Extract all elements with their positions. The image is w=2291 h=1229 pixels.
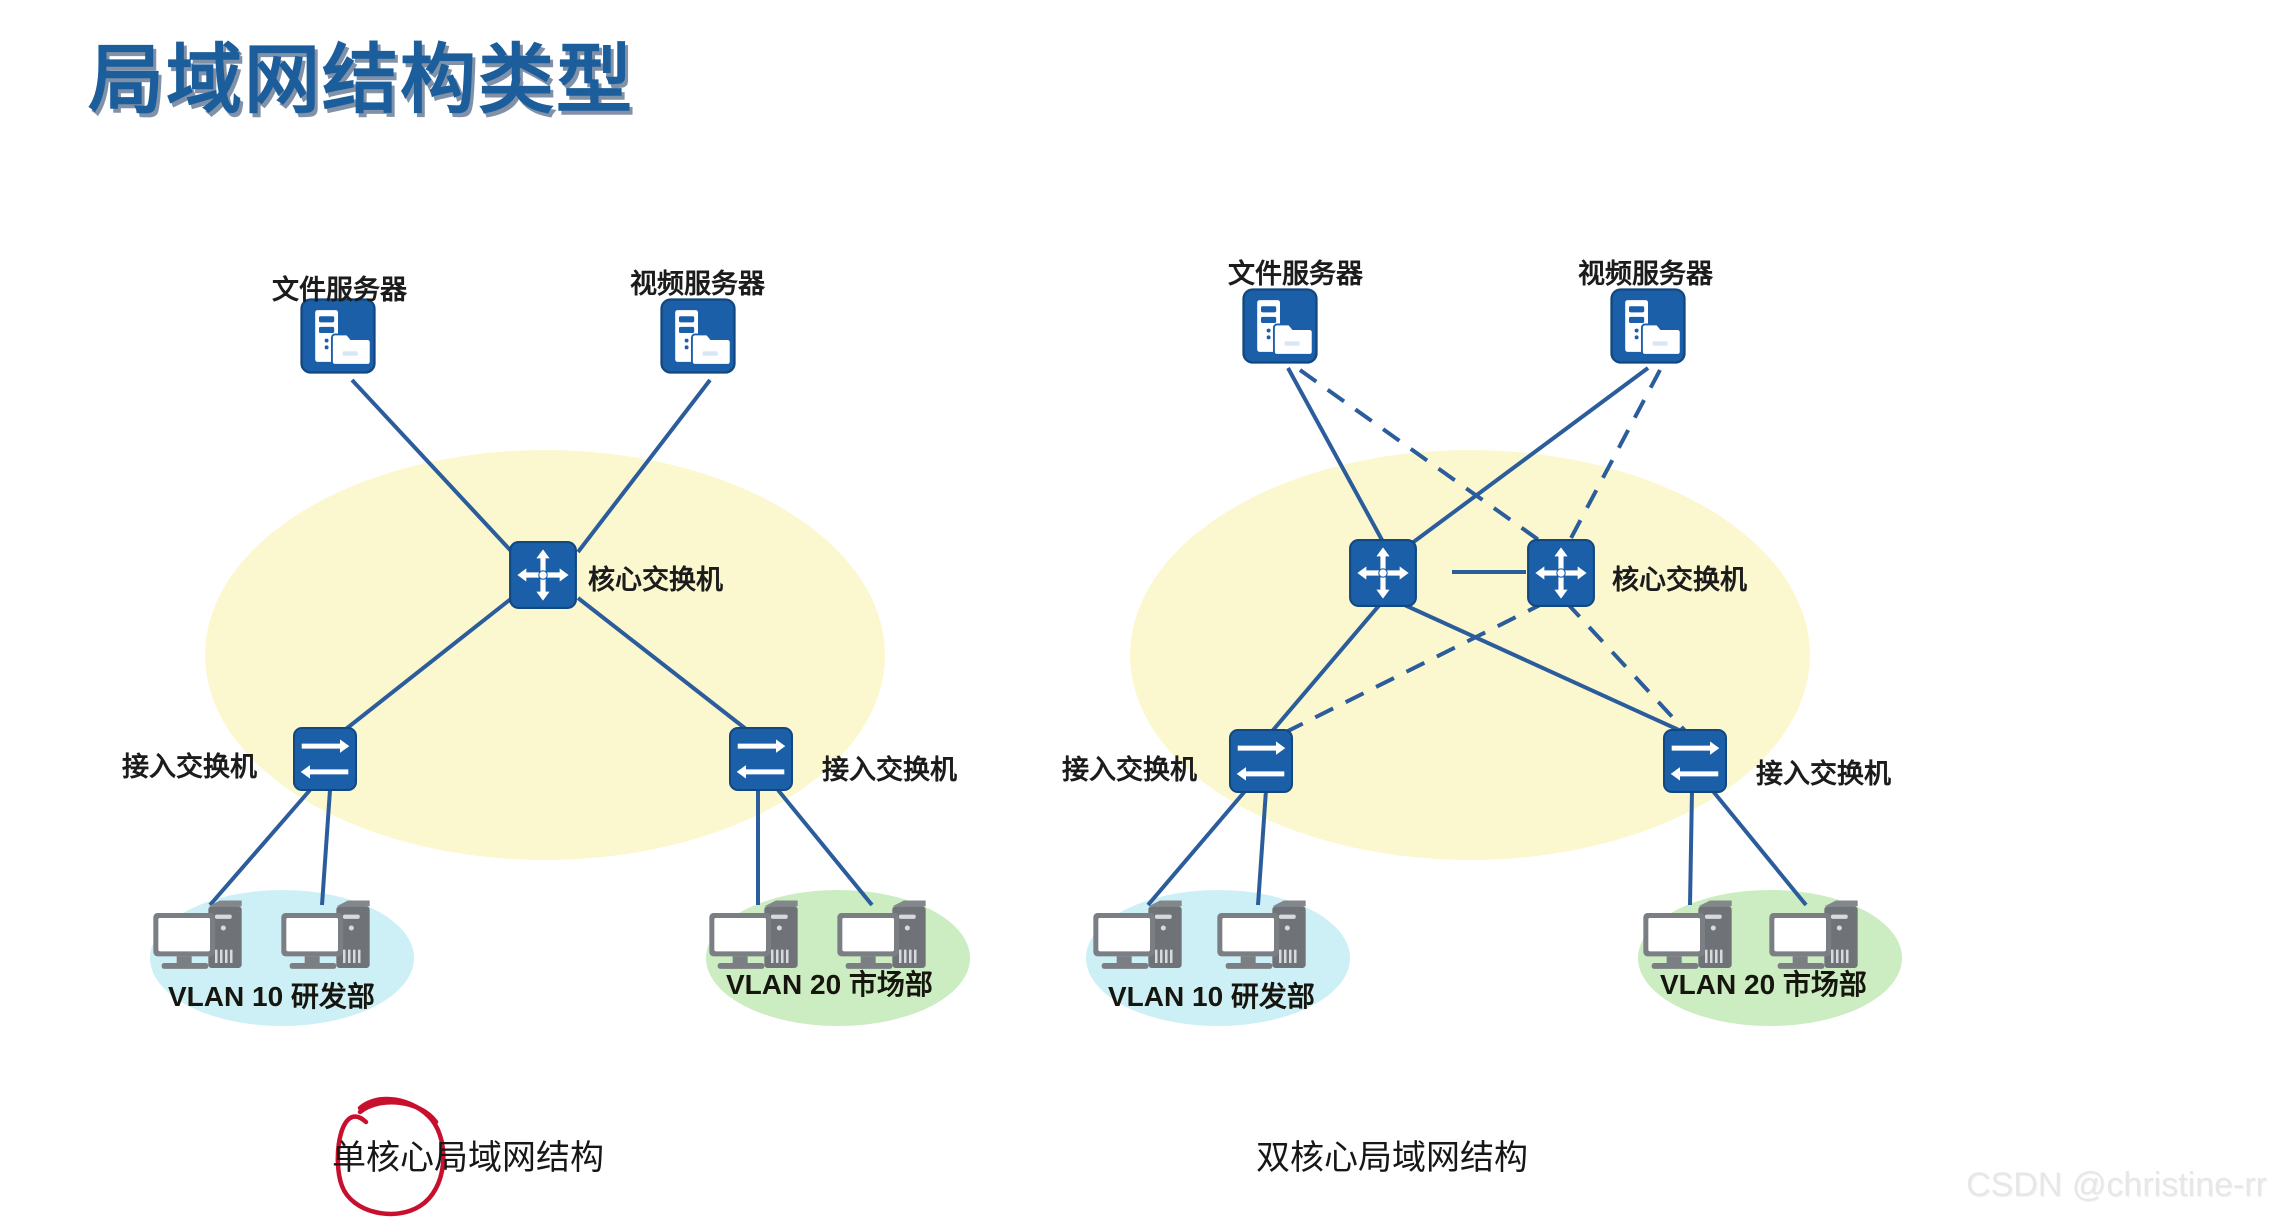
core-zone-ellipse (1130, 450, 1810, 860)
device-access-switch-right[interactable] (1664, 730, 1726, 792)
link-access-right-pc1 (1690, 790, 1692, 905)
label-access-switch-left: 接入交换机 (1062, 748, 1197, 787)
link-access-right-pc2 (778, 790, 872, 905)
link-access-left-pc1 (1148, 790, 1246, 905)
link-access-left-pc1 (210, 790, 310, 905)
device-video-server[interactable] (662, 300, 735, 373)
label-file-server: 文件服务器 (1228, 252, 1363, 291)
label-video-server: 视频服务器 (1578, 252, 1713, 291)
label-video-server: 视频服务器 (630, 262, 765, 301)
label-vlan10: VLAN 10 研发部 (1108, 975, 1315, 1015)
label-vlan10: VLAN 10 研发部 (168, 975, 375, 1015)
label-access-switch-right: 接入交换机 (1756, 752, 1891, 791)
device-access-switch-left[interactable] (294, 728, 356, 790)
caption-single-core: 单核心局域网结构 (332, 1130, 604, 1179)
device-access-switch-right[interactable] (730, 728, 792, 790)
network-diagrams (0, 0, 2291, 1229)
device-core-switch[interactable] (510, 542, 576, 608)
device-file-server[interactable] (302, 300, 375, 373)
label-access-switch-right: 接入交换机 (822, 748, 957, 787)
slide-canvas: 局域网结构类型 (0, 0, 2291, 1229)
watermark: CSDN @christine-rr (1966, 1166, 2267, 1205)
device-video-server[interactable] (1612, 290, 1685, 363)
device-file-server[interactable] (1244, 290, 1317, 363)
label-file-server: 文件服务器 (272, 268, 407, 307)
label-core-switch: 核心交换机 (588, 558, 723, 597)
device-core-switch-primary[interactable] (1350, 540, 1416, 606)
caption-dual-core: 双核心局域网结构 (1256, 1130, 1528, 1179)
label-vlan20: VLAN 20 市场部 (1660, 963, 1867, 1003)
device-core-switch-secondary[interactable] (1528, 540, 1594, 606)
label-vlan20: VLAN 20 市场部 (726, 963, 933, 1003)
diagram-dual-core (1086, 290, 1902, 1026)
device-access-switch-left[interactable] (1230, 730, 1292, 792)
link-access-right-pc2 (1712, 790, 1806, 905)
label-access-switch-left: 接入交换机 (122, 745, 257, 784)
label-core-switch: 核心交换机 (1612, 558, 1747, 597)
